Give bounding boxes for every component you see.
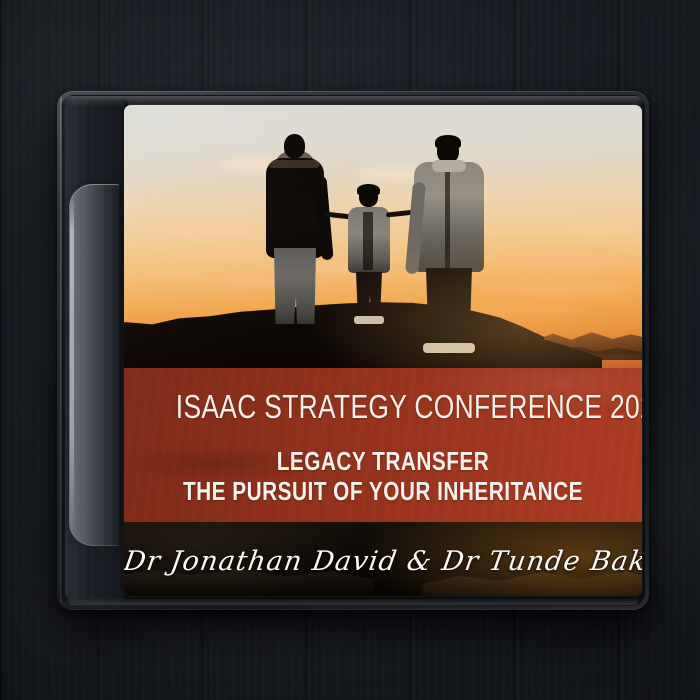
adult-shoes	[272, 324, 318, 332]
silhouette-adult	[262, 134, 328, 330]
adult-legs	[274, 248, 316, 332]
silhouette-teen	[412, 138, 488, 356]
child-legs	[356, 272, 382, 322]
conference-theme: LEGACY TRANSFER THE PURSUIT OF YOUR INHE…	[124, 447, 642, 506]
adult-shoulder-highlight	[268, 160, 320, 168]
theme-line-secondary: THE PURSUIT OF YOUR INHERITANCE	[176, 477, 590, 507]
album-cover-artwork[interactable]: ISAAC STRATEGY CONFERENCE 2024 LEGACY TR…	[124, 105, 642, 596]
album-cover-scene: ISAAC STRATEGY CONFERENCE 2024 LEGACY TR…	[0, 0, 700, 700]
cd-jewel-case[interactable]: ISAAC STRATEGY CONFERENCE 2024 LEGACY TR…	[57, 91, 649, 610]
speaker-band: Dr Jonathan David & Dr Tunde Bakare	[124, 522, 642, 596]
teen-jacket-seam	[445, 166, 450, 270]
child-shoes	[354, 316, 384, 324]
teen-collar	[432, 160, 466, 172]
adult-head	[284, 134, 305, 158]
case-hinge-tongue	[69, 184, 119, 546]
teen-shoes	[423, 343, 475, 353]
theme-line-primary: LEGACY TRANSFER	[176, 447, 590, 477]
cover-photograph	[124, 105, 642, 368]
speaker-names: Dr Jonathan David & Dr Tunde Bakare	[124, 546, 642, 577]
child-torso-shadow	[363, 212, 373, 270]
adult-torso	[266, 158, 324, 258]
case-spine-outer-rail	[60, 97, 62, 604]
teen-legs	[426, 268, 472, 350]
silhouette-child	[346, 186, 392, 326]
title-band: ISAAC STRATEGY CONFERENCE 2024 LEGACY TR…	[124, 368, 642, 522]
child-head	[359, 186, 378, 207]
case-hinge-highlight	[70, 191, 74, 539]
conference-title: ISAAC STRATEGY CONFERENCE 2024	[176, 390, 590, 423]
